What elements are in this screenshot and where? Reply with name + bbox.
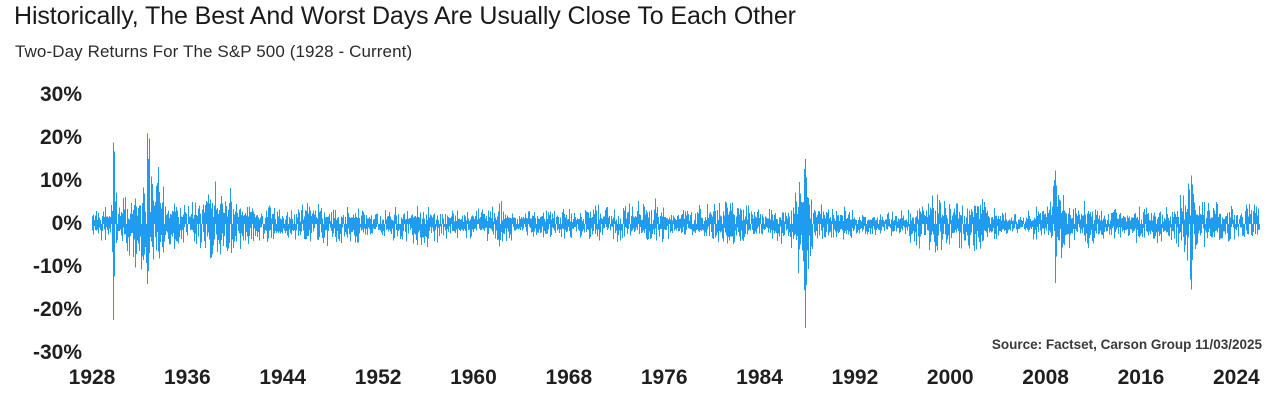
y-axis-tick-label: -30% (33, 341, 82, 365)
x-axis-tick-label: 1952 (355, 366, 402, 390)
x-axis-tick-label: 2016 (1118, 366, 1165, 390)
x-axis-tick-label: 2024 (1213, 366, 1260, 390)
x-axis-tick-label: 1968 (545, 366, 592, 390)
x-axis-tick-label: 2008 (1022, 366, 1069, 390)
y-axis-tick-label: 10% (40, 169, 82, 193)
y-axis-tick-label: 20% (40, 126, 82, 150)
x-axis-tick-label: 1928 (69, 366, 116, 390)
x-axis-tick-label: 1992 (832, 366, 879, 390)
x-axis-tick-label: 1960 (450, 366, 497, 390)
y-axis-tick-label: 0% (52, 212, 82, 236)
y-axis-tick-label: -10% (33, 255, 82, 279)
x-axis-tick-label: 1976 (641, 366, 688, 390)
chart-container: Historically, The Best And Worst Days Ar… (0, 0, 1280, 408)
source-note: Source: Factset, Carson Group 11/03/2025 (992, 337, 1262, 352)
x-axis-tick-label: 1944 (259, 366, 306, 390)
y-axis-tick-label: 30% (40, 83, 82, 107)
x-axis-tick-label: 2000 (927, 366, 974, 390)
x-axis-tick-label: 1984 (736, 366, 783, 390)
x-axis-tick-label: 1936 (164, 366, 211, 390)
y-axis-tick-label: -20% (33, 298, 82, 322)
